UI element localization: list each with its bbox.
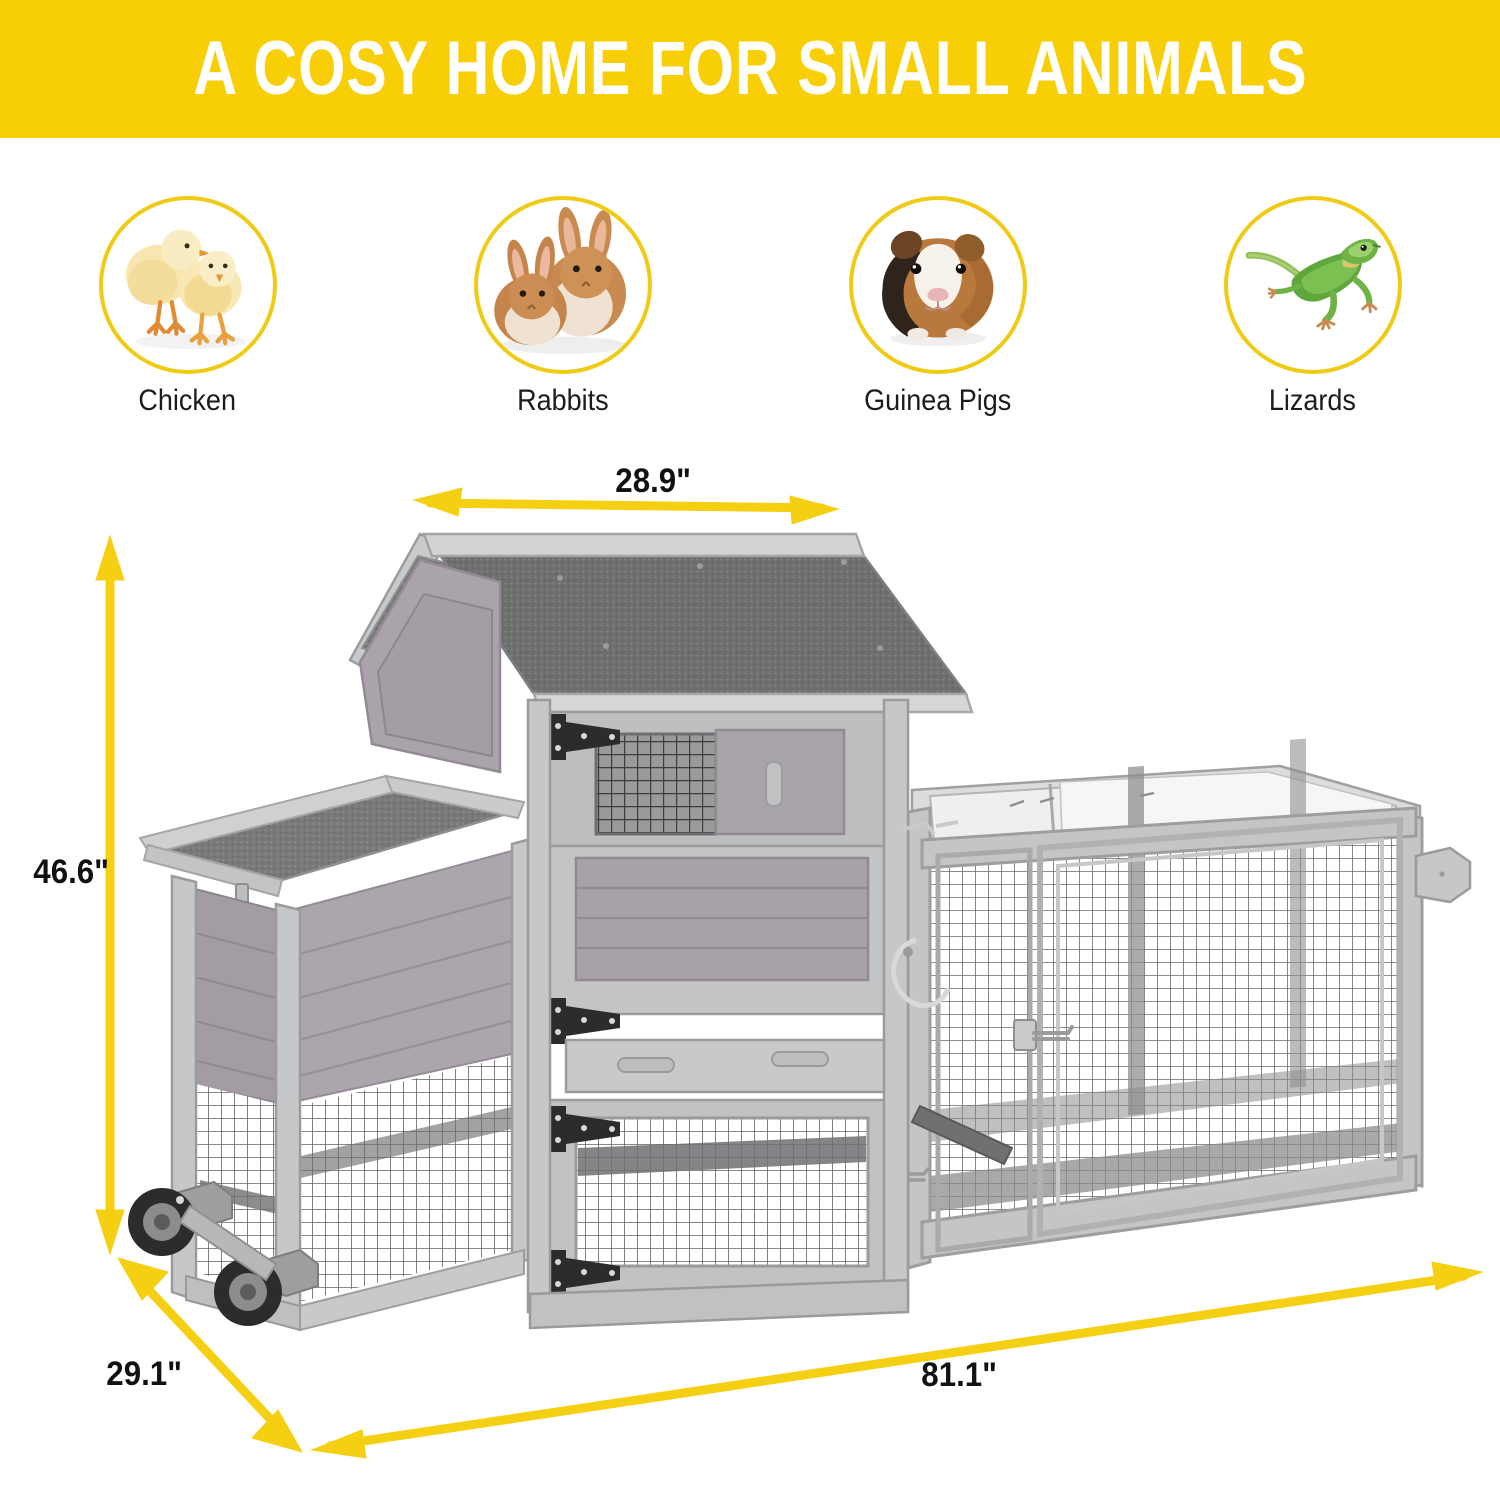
pullout-tray [566,1040,890,1092]
dimension-label-length: 81.1" [921,1356,997,1395]
chicken-coop-illustration [0,0,1500,1500]
house-ventilation-mesh [596,734,716,834]
dimension-label-width: 28.9" [615,462,691,501]
wire-hook-pin [903,947,913,957]
tray-handle-left [618,1058,674,1072]
tray-handle-right [772,1052,828,1066]
house-nest-door-handle [766,762,782,806]
house-roof-ridge [424,534,864,556]
dimension-label-depth: 29.1" [106,1355,182,1394]
house-roof-main [430,540,966,694]
dimension-label-height: 46.6" [33,853,109,892]
product-image [0,0,1500,1500]
